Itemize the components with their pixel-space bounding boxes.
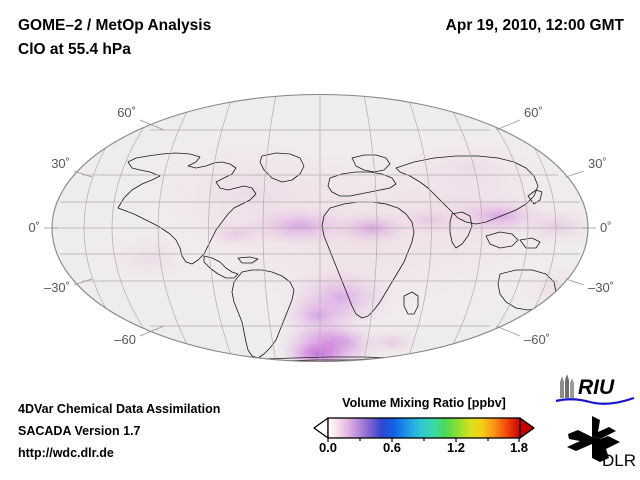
colorbar: [312, 416, 536, 442]
datestamp: Apr 19, 2010, 12:00 GMT: [446, 14, 624, 38]
colorbar-tick-2: 1.2: [436, 440, 476, 455]
lat-label-30s-right: –30˚: [588, 280, 614, 295]
lat-label-0-left: 0˚: [28, 220, 40, 235]
world-map: 0˚ 0˚ 30˚ 30˚ –30˚ –30˚ 60˚ 60˚ –60 –60˚: [0, 58, 640, 378]
lat-label-30n-left: 30˚: [51, 156, 70, 171]
lat-label-30s-left: –30˚: [44, 280, 70, 295]
dlr-wordmark: DLR: [602, 451, 636, 470]
footer-line-version: SACADA Version 1.7: [18, 420, 318, 442]
riu-logo: RIU: [552, 372, 638, 408]
colorbar-tick-3: 1.8: [499, 440, 539, 455]
riu-wordmark: RIU: [578, 376, 615, 399]
lat-label-60n-left: 60˚: [117, 105, 136, 120]
dlr-logo: DLR: [562, 412, 638, 470]
footer-line-url[interactable]: http://wdc.dlr.de: [18, 442, 318, 464]
lat-label-60n-right: 60˚: [524, 105, 543, 120]
figure-canvas: GOME–2 / MetOp Analysis ClO at 55.4 hPa …: [0, 0, 640, 480]
title-block: GOME–2 / MetOp Analysis ClO at 55.4 hPa: [18, 14, 398, 62]
riu-tower-icon: [560, 374, 574, 398]
footer-line-method: 4DVar Chemical Data Assimilation: [18, 398, 318, 420]
colorbar-tick-0: 0.0: [308, 440, 348, 455]
footer-text-block: 4DVar Chemical Data Assimilation SACADA …: [18, 398, 318, 464]
lat-label-0-right: 0˚: [600, 220, 612, 235]
colorbar-gradient: [328, 418, 520, 438]
colorbar-extend-left: [314, 418, 328, 438]
logo-block: RIU DLR: [552, 372, 638, 472]
colorbar-title: Volume Mixing Ratio [ppbv]: [312, 396, 536, 410]
lat-label-60s-right: –60˚: [524, 332, 550, 347]
lat-label-60s-left: –60: [114, 332, 136, 347]
map-panel: 0˚ 0˚ 30˚ 30˚ –30˚ –30˚ 60˚ 60˚ –60 –60˚: [0, 58, 640, 378]
page-title: GOME–2 / MetOp Analysis: [18, 14, 398, 38]
lat-label-30n-right: 30˚: [588, 156, 607, 171]
colorbar-tick-1: 0.6: [372, 440, 412, 455]
colorbar-block: Volume Mixing Ratio [ppbv]: [312, 396, 536, 472]
colorbar-extend-right: [520, 418, 534, 438]
